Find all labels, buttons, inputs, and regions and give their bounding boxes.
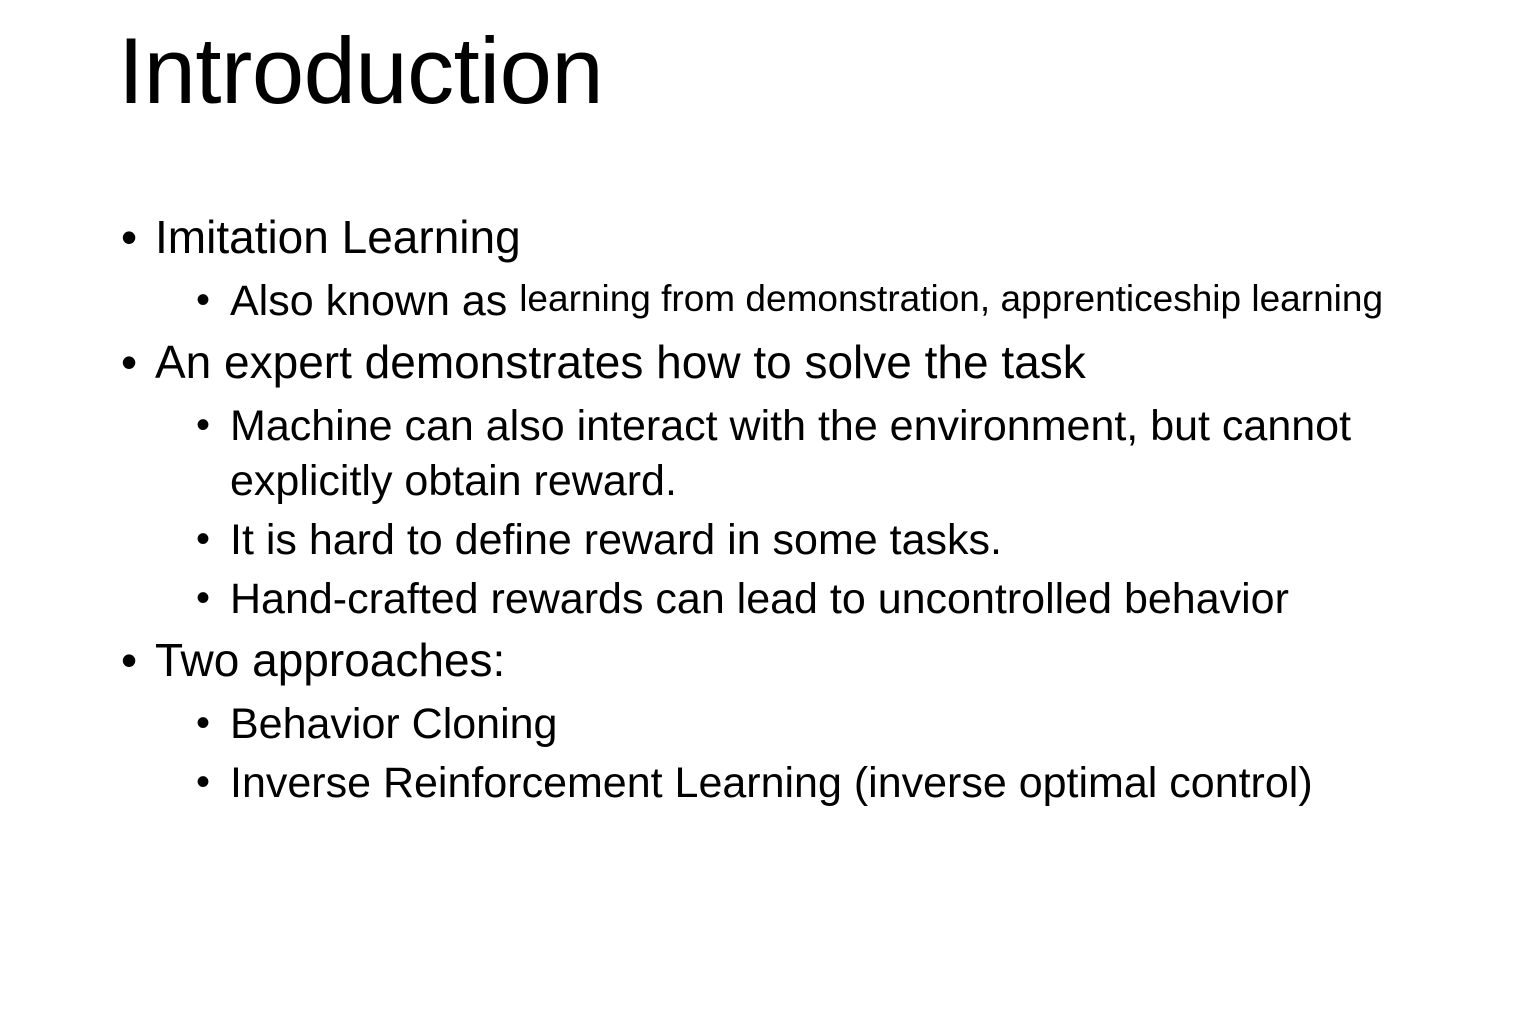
list-item: • Machine can also interact with the env… [0, 399, 1460, 509]
bullet-icon: • [121, 631, 137, 691]
list-item-label: An expert demonstrates how to solve the … [155, 333, 1460, 393]
list-item-label: Hand-crafted rewards can lead to uncontr… [230, 572, 1460, 627]
page-title: Introduction [118, 18, 603, 123]
list-item-label-lead: Also known as [230, 277, 519, 325]
list-item-label: Machine can also interact with the envir… [230, 399, 1460, 509]
list-item-label: Behavior Cloning [230, 697, 1460, 752]
list-item-label: Inverse Reinforcement Learning (inverse … [230, 756, 1460, 811]
bullet-list: • Imitation Learning • Also known as lea… [0, 208, 1460, 815]
list-item: • Behavior Cloning [0, 697, 1460, 752]
bullet-icon: • [121, 333, 137, 393]
bullet-icon: • [196, 513, 210, 566]
bullet-icon: • [196, 572, 210, 625]
list-item-label-emphasis: learning from demonstration, apprentices… [519, 278, 1383, 319]
list-item: • Two approaches: [0, 631, 1460, 691]
list-item: • An expert demonstrates how to solve th… [0, 333, 1460, 393]
list-item: • Hand-crafted rewards can lead to uncon… [0, 572, 1460, 627]
list-item: • It is hard to define reward in some ta… [0, 513, 1460, 568]
bullet-icon: • [196, 756, 210, 809]
bullet-icon: • [196, 697, 210, 750]
list-item-label: Imitation Learning [155, 208, 1460, 268]
list-item: • Also known as learning from demonstrat… [0, 274, 1460, 329]
list-item: • Imitation Learning [0, 208, 1460, 268]
list-item-label: It is hard to define reward in some task… [230, 513, 1460, 568]
list-item-label: Two approaches: [155, 631, 1460, 691]
slide-canvas: Introduction • Imitation Learning • Also… [0, 0, 1518, 1030]
list-item-label: Also known as learning from demonstratio… [230, 274, 1460, 329]
list-item: • Inverse Reinforcement Learning (invers… [0, 756, 1460, 811]
bullet-icon: • [196, 399, 210, 452]
bullet-icon: • [121, 208, 137, 268]
bullet-icon: • [196, 274, 210, 327]
